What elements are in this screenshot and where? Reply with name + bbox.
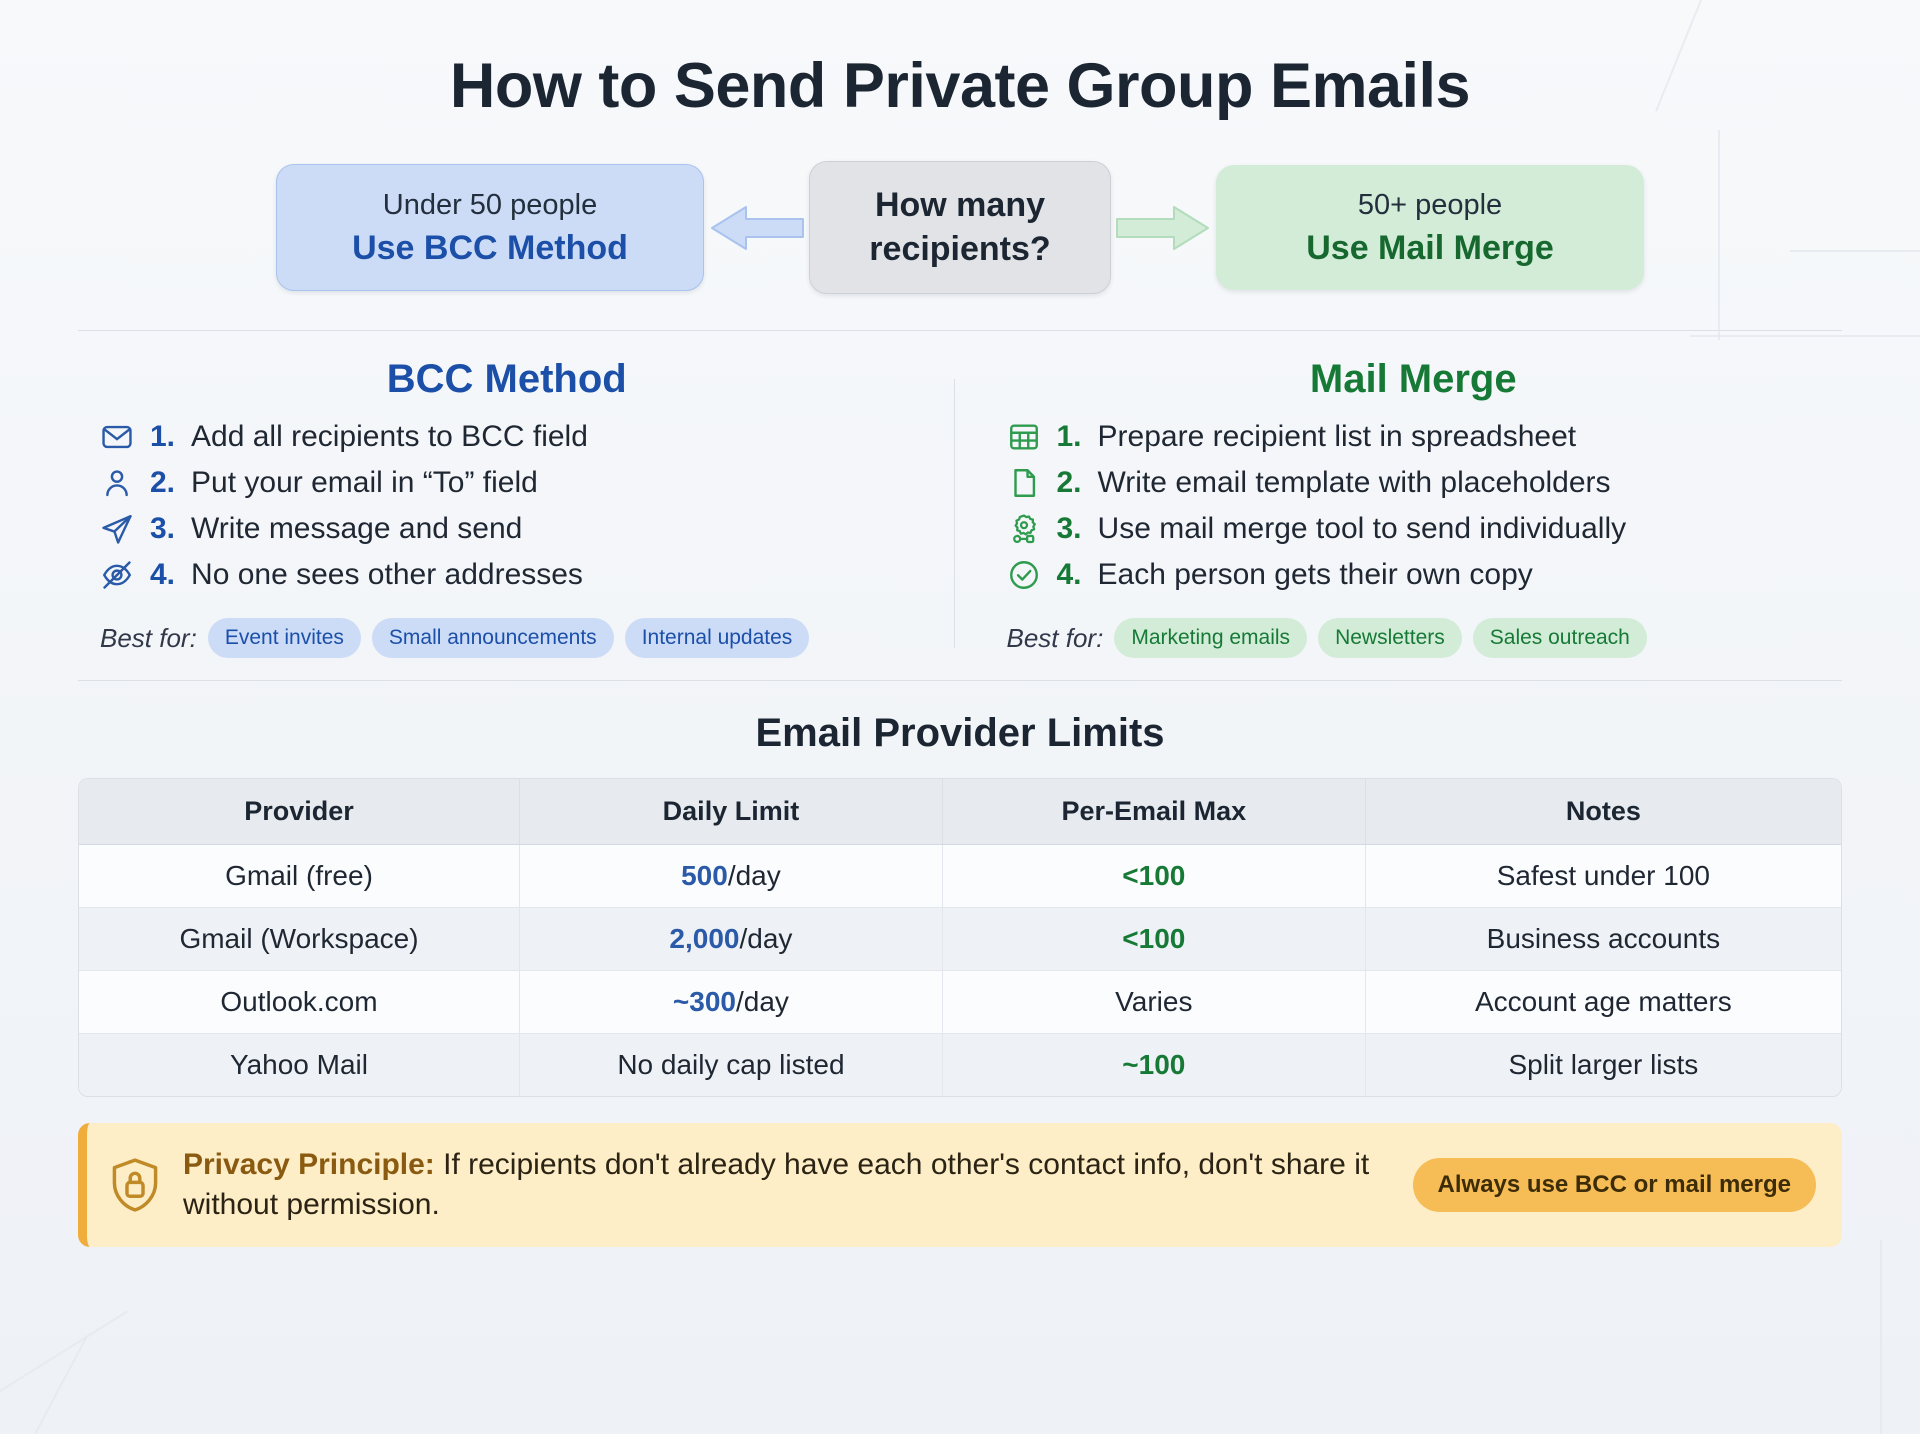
arrow-right-icon (1111, 197, 1216, 259)
page-title: How to Send Private Group Emails (0, 0, 1920, 121)
table-section-title: Email Provider Limits (0, 711, 1920, 756)
flow-question-line2: recipients? (840, 228, 1080, 272)
cell-notes: Split larger lists (1365, 1034, 1841, 1097)
bcc-step-1: 1. Add all recipients to BCC field (100, 420, 914, 454)
bcc-step-3: 3. Write message and send (100, 512, 914, 546)
column-header-notes: Notes (1365, 779, 1841, 845)
bcc-best-for-label: Best for: (100, 623, 197, 654)
per-email-value: <100 (1122, 860, 1185, 891)
flow-box-question[interactable]: How many recipients? (809, 161, 1111, 294)
daily-limit-suffix: /day (740, 923, 793, 954)
document-icon (1007, 466, 1041, 500)
bcc-step-2: 2. Put your email in “To” field (100, 466, 914, 500)
cell-per-email-max: ~100 (942, 1034, 1365, 1097)
cell-daily-limit: 2,000/day (520, 908, 943, 971)
mm-step-4: 4. Each person gets their own copy (1007, 558, 1821, 592)
bcc-step-3-text: Write message and send (191, 512, 522, 546)
mm-tag-1[interactable]: Marketing emails (1114, 618, 1307, 658)
mm-step-2-text: Write email template with placeholders (1098, 466, 1611, 500)
flow-box-bcc[interactable]: Under 50 people Use BCC Method (276, 164, 704, 291)
daily-limit-suffix: /day (736, 986, 789, 1017)
cell-per-email-max: Varies (942, 971, 1365, 1034)
flow-box-mm-condition: 50+ people (1246, 187, 1614, 223)
cell-notes: Safest under 100 (1365, 845, 1841, 908)
check-circle-icon (1007, 558, 1041, 592)
bcc-step-4-number: 4. (150, 558, 175, 592)
bcc-step-3-number: 3. (150, 512, 175, 546)
mail-merge-best-for: Best for: Marketing emails Newsletters S… (1007, 618, 1821, 658)
mail-merge-column: Mail Merge 1. Prepare recipient list in … (955, 357, 1843, 658)
bcc-step-2-text: Put your email in “To” field (191, 466, 538, 500)
decorative-line (1880, 1240, 1882, 1434)
banner-strong-label: Privacy Principle: (183, 1148, 435, 1181)
flow-box-mail-merge[interactable]: 50+ people Use Mail Merge (1216, 165, 1644, 290)
bcc-tag-1[interactable]: Event invites (208, 618, 361, 658)
envelope-icon (100, 420, 134, 454)
flow-question-line1: How many (840, 184, 1080, 228)
bcc-column-title: BCC Method (100, 357, 914, 402)
spreadsheet-icon (1007, 420, 1041, 454)
eye-off-icon (100, 558, 134, 592)
mm-step-4-number: 4. (1057, 558, 1082, 592)
per-email-value: <100 (1122, 923, 1185, 954)
bcc-step-4-text: No one sees other addresses (191, 558, 583, 592)
bcc-tag-3[interactable]: Internal updates (625, 618, 810, 658)
table-row: Yahoo Mail No daily cap listed ~100 Spli… (79, 1034, 1841, 1097)
mm-step-3: 3. Use mail merge tool to send individua… (1007, 512, 1821, 546)
provider-limits-table: Provider Daily Limit Per-Email Max Notes… (78, 778, 1842, 1097)
daily-limit-value: 2,000 (669, 923, 739, 954)
flow-box-bcc-action: Use BCC Method (307, 228, 673, 269)
cell-daily-limit: ~300/day (520, 971, 943, 1034)
cell-notes: Account age matters (1365, 971, 1841, 1034)
daily-limit-suffix: No daily cap listed (617, 1049, 844, 1080)
banner-message: Privacy Principle: If recipients don't a… (183, 1145, 1391, 1225)
methods-section: BCC Method 1. Add all recipients to BCC … (78, 331, 1842, 658)
column-header-provider: Provider (79, 779, 520, 845)
cell-per-email-max: <100 (942, 908, 1365, 971)
cell-provider: Gmail (Workspace) (79, 908, 520, 971)
daily-limit-value: ~300 (673, 986, 736, 1017)
bcc-step-1-text: Add all recipients to BCC field (191, 420, 588, 454)
mm-step-1: 1. Prepare recipient list in spreadsheet (1007, 420, 1821, 454)
bcc-step-2-number: 2. (150, 466, 175, 500)
cell-notes: Business accounts (1365, 908, 1841, 971)
column-header-per-email-max: Per-Email Max (942, 779, 1365, 845)
divider-bottom (78, 680, 1842, 681)
banner-pill-badge[interactable]: Always use BCC or mail merge (1413, 1158, 1816, 1212)
mail-merge-column-title: Mail Merge (1007, 357, 1821, 402)
gear-settings-icon (1007, 512, 1041, 546)
daily-limit-suffix: /day (728, 860, 781, 891)
column-header-daily-limit: Daily Limit (520, 779, 943, 845)
arrow-left-icon (704, 197, 809, 259)
decorative-line (1718, 130, 1720, 340)
table-header-row: Provider Daily Limit Per-Email Max Notes (79, 779, 1841, 845)
mm-best-for-label: Best for: (1007, 623, 1104, 654)
decision-flow: Under 50 people Use BCC Method How many … (0, 161, 1920, 294)
person-icon (100, 466, 134, 500)
bcc-best-for: Best for: Event invites Small announceme… (100, 618, 914, 658)
paper-plane-icon (100, 512, 134, 546)
per-email-value: Varies (1115, 986, 1192, 1017)
bcc-step-4: 4. No one sees other addresses (100, 558, 914, 592)
shield-lock-icon (109, 1156, 161, 1214)
mm-tag-3[interactable]: Sales outreach (1473, 618, 1647, 658)
flow-box-mm-action: Use Mail Merge (1246, 228, 1614, 269)
bcc-step-1-number: 1. (150, 420, 175, 454)
bcc-tag-2[interactable]: Small announcements (372, 618, 614, 658)
mm-tag-2[interactable]: Newsletters (1318, 618, 1462, 658)
cell-provider: Outlook.com (79, 971, 520, 1034)
mm-step-2-number: 2. (1057, 466, 1082, 500)
table-row: Gmail (free) 500/day <100 Safest under 1… (79, 845, 1841, 908)
flow-box-bcc-condition: Under 50 people (307, 187, 673, 223)
mm-step-1-number: 1. (1057, 420, 1082, 454)
daily-limit-value: 500 (681, 860, 728, 891)
cell-provider: Gmail (free) (79, 845, 520, 908)
privacy-principle-banner: Privacy Principle: If recipients don't a… (78, 1123, 1842, 1247)
mm-step-4-text: Each person gets their own copy (1098, 558, 1533, 592)
cell-daily-limit: 500/day (520, 845, 943, 908)
table-row: Outlook.com ~300/day Varies Account age … (79, 971, 1841, 1034)
mm-step-2: 2. Write email template with placeholder… (1007, 466, 1821, 500)
mm-step-1-text: Prepare recipient list in spreadsheet (1098, 420, 1577, 454)
cell-per-email-max: <100 (942, 845, 1365, 908)
mm-step-3-number: 3. (1057, 512, 1082, 546)
table-row: Gmail (Workspace) 2,000/day <100 Busines… (79, 908, 1841, 971)
bcc-method-column: BCC Method 1. Add all recipients to BCC … (78, 357, 954, 658)
mm-step-3-text: Use mail merge tool to send individually (1098, 512, 1627, 546)
cell-daily-limit: No daily cap listed (520, 1034, 943, 1097)
decorative-line (1790, 250, 1920, 252)
per-email-value: ~100 (1122, 1049, 1185, 1080)
infographic-page: How to Send Private Group Emails Under 5… (0, 0, 1920, 1434)
cell-provider: Yahoo Mail (79, 1034, 520, 1097)
